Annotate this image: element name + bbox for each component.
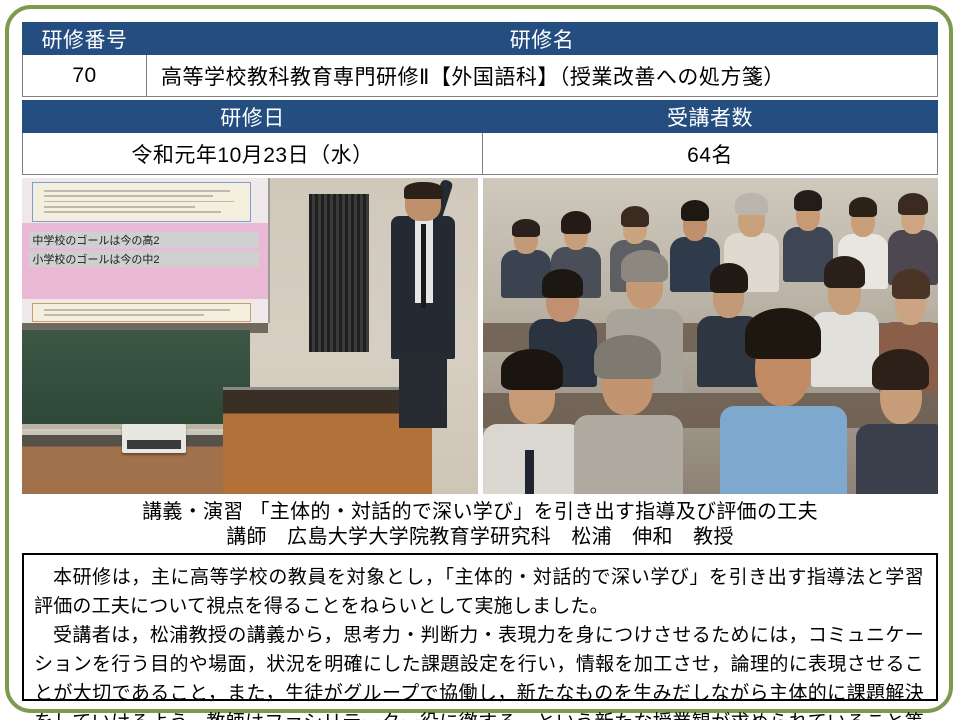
value-training-name: 高等学校教科教育専門研修Ⅱ【外国語科】（授業改善への処方箋） bbox=[147, 55, 938, 97]
presenter-legs bbox=[399, 354, 447, 428]
projector-device bbox=[122, 424, 186, 452]
photo-caption: 講義・演習 「主体的・対話的で深い学び」を引き出す指導及び評価の工夫 講師 広島… bbox=[22, 500, 938, 550]
training-summary-table-bottom: 研修日 受講者数 令和元年10月23日（水） 64名 bbox=[22, 100, 938, 175]
value-training-date: 令和元年10月23日（水） bbox=[23, 133, 483, 175]
header-training-number: 研修番号 bbox=[23, 23, 147, 55]
slide-bottom-text-block bbox=[32, 303, 251, 322]
header-attendees: 受講者数 bbox=[483, 101, 938, 133]
value-attendees: 64名 bbox=[483, 133, 938, 175]
slide-text-line-2: 小学校のゴールは今の中2 bbox=[29, 251, 259, 267]
wall-speaker-grille bbox=[309, 194, 368, 352]
header-training-date: 研修日 bbox=[23, 101, 483, 133]
audience-person-front bbox=[483, 342, 583, 494]
audience-person-front bbox=[720, 304, 847, 494]
presenter-hair bbox=[404, 182, 443, 199]
description-box: 本研修は，主に高等学校の教員を対象とし，「主体的・対話的で深い学び」を引き出す指… bbox=[22, 553, 938, 701]
table-row: 研修番号 研修名 bbox=[23, 23, 938, 55]
value-training-number: 70 bbox=[23, 55, 147, 97]
photo-lecture-hall: 中学校のゴールは今の高2 小学校のゴールは今の中2 bbox=[22, 178, 478, 494]
slide-text-line-1: 中学校のゴールは今の高2 bbox=[29, 232, 259, 248]
table-row: 研修日 受講者数 bbox=[23, 101, 938, 133]
projection-screen: 中学校のゴールは今の高2 小学校のゴールは今の中2 bbox=[22, 178, 270, 323]
header-training-name: 研修名 bbox=[147, 23, 938, 55]
description-paragraph-1: 本研修は，主に高等学校の教員を対象とし，「主体的・対話的で深い学び」を引き出す指… bbox=[34, 563, 924, 621]
caption-line-1: 講義・演習 「主体的・対話的で深い学び」を引き出す指導及び評価の工夫 bbox=[22, 500, 938, 525]
report-page: 研修番号 研修名 70 高等学校教科教育専門研修Ⅱ【外国語科】（授業改善への処方… bbox=[0, 0, 960, 720]
description-paragraph-2: 受講者は，松浦教授の講義から，思考力・判断力・表現力を身につけさせるためには，コ… bbox=[34, 621, 924, 720]
chalkboard bbox=[22, 330, 250, 430]
caption-line-2: 講師 広島大学大学院教育学研究科 松浦 伸和 教授 bbox=[22, 525, 938, 550]
table-row: 70 高等学校教科教育専門研修Ⅱ【外国語科】（授業改善への処方箋） bbox=[23, 55, 938, 97]
presenter-figure bbox=[387, 184, 465, 430]
photo-audience bbox=[483, 178, 938, 494]
presenter-necktie bbox=[421, 224, 426, 308]
slide-top-text-block bbox=[32, 182, 251, 222]
table-row: 令和元年10月23日（水） 64名 bbox=[23, 133, 938, 175]
training-summary-table-top: 研修番号 研修名 70 高等学校教科教育専門研修Ⅱ【外国語科】（授業改善への処方… bbox=[22, 22, 938, 97]
audience-person-front bbox=[856, 342, 938, 494]
audience-person-front bbox=[574, 330, 683, 494]
